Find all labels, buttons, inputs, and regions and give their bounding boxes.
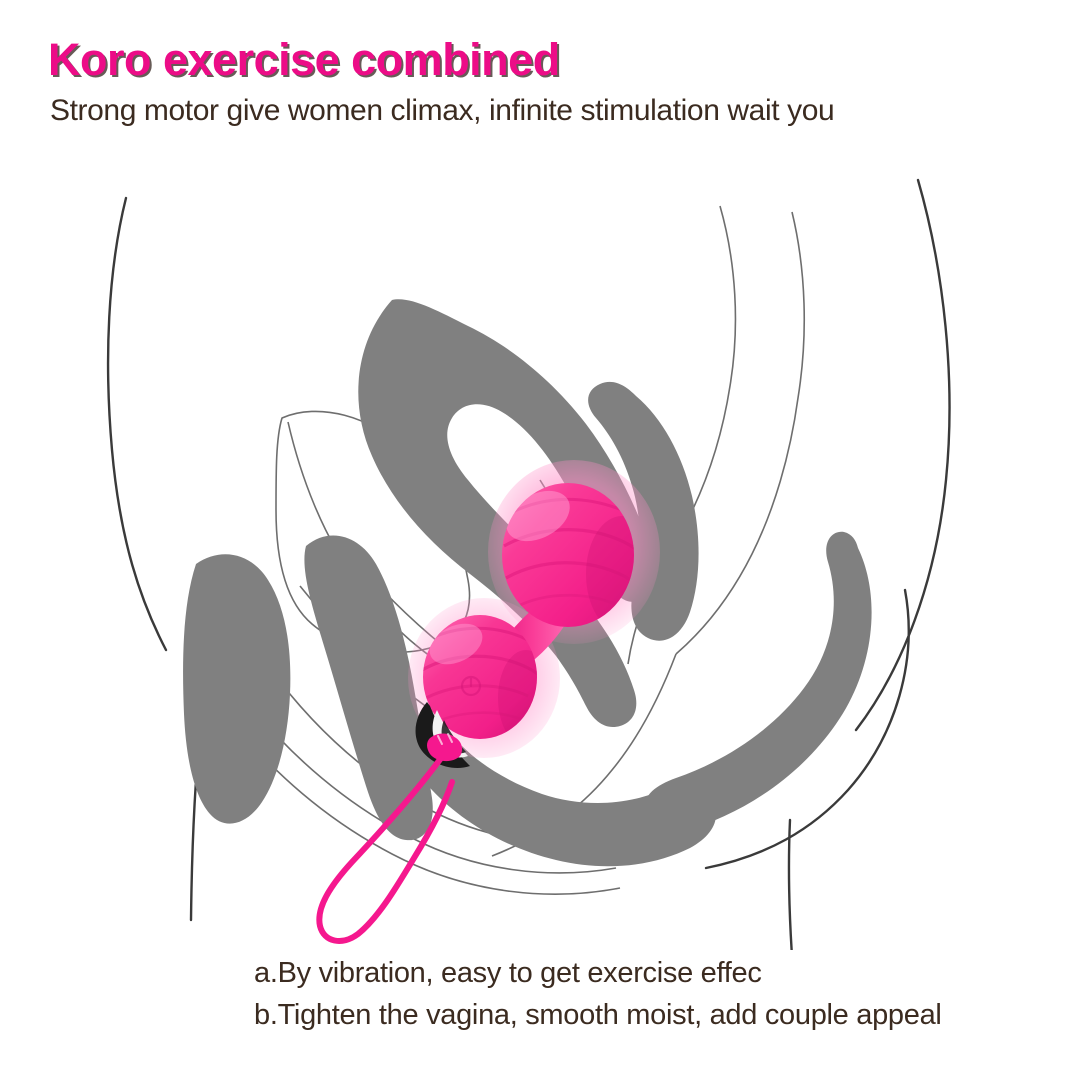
gluteal-fold-outline	[789, 820, 792, 950]
anatomy-illustration	[0, 150, 1080, 950]
anatomy-diagram-svg	[0, 150, 1080, 950]
feature-line-a: a.By vibration, easy to get exercise eff…	[254, 952, 1054, 994]
poster-canvas: Koro exercise combined Strong motor give…	[0, 0, 1080, 1080]
left-torso-outline	[108, 198, 166, 650]
bladder-mass	[183, 554, 290, 823]
right-back-outline	[856, 180, 950, 730]
page-subtitle: Strong motor give women climax, infinite…	[50, 93, 1048, 129]
header: Koro exercise combined Strong motor give…	[48, 36, 1048, 129]
page-title: Koro exercise combined	[48, 36, 1048, 83]
footer-features: a.By vibration, easy to get exercise eff…	[254, 952, 1054, 1037]
feature-line-b: b.Tighten the vagina, smooth moist, add …	[254, 994, 1054, 1036]
